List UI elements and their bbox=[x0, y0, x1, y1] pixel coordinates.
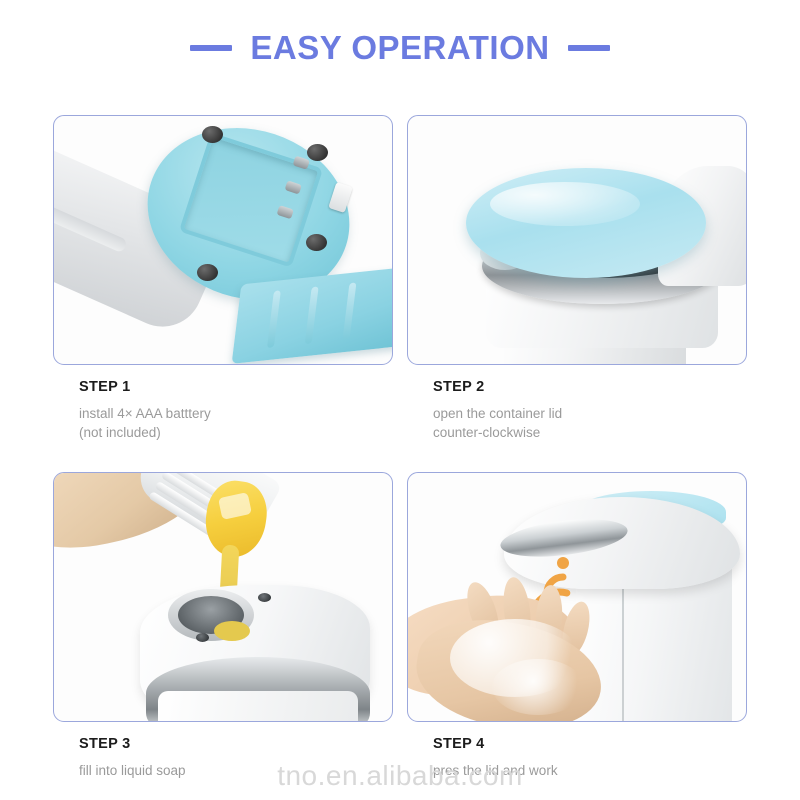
open-lid-scene bbox=[408, 116, 746, 364]
step-label: STEP 3 bbox=[79, 736, 391, 752]
step-description: open the container lid counter-clockwise bbox=[433, 404, 745, 442]
step-label: STEP 2 bbox=[433, 379, 745, 395]
step-label: STEP 4 bbox=[433, 736, 745, 752]
steps-grid: STEP 1 install 4× AAA batttery (not incl… bbox=[53, 115, 747, 780]
rubber-foot-shape bbox=[197, 264, 218, 281]
rubber-foot-shape bbox=[307, 144, 328, 161]
container-lid-shape bbox=[466, 168, 706, 278]
step-description-line2: counter-clockwise bbox=[433, 425, 540, 440]
pour-soap-scene bbox=[54, 473, 392, 721]
step-caption-2: STEP 2 open the container lid counter-cl… bbox=[407, 365, 747, 442]
step-caption-1: STEP 1 install 4× AAA batttery (not incl… bbox=[53, 365, 393, 442]
battery-compartment-scene bbox=[54, 116, 392, 364]
page-header: EASY OPERATION bbox=[0, 0, 800, 95]
dispenser-lower-body-shape bbox=[158, 691, 358, 722]
rubber-foot-shape bbox=[202, 126, 223, 143]
page-title: EASY OPERATION bbox=[250, 29, 549, 67]
sensor-hands-scene bbox=[408, 473, 746, 721]
step-description-line2: (not included) bbox=[79, 425, 161, 440]
step-description-line1: install 4× AAA batttery bbox=[79, 406, 211, 421]
step-caption-3: STEP 3 fill into liquid soap bbox=[53, 722, 393, 780]
step-cell-4: STEP 4 pres the lid and work bbox=[407, 472, 747, 780]
title-dash-right-icon bbox=[568, 45, 610, 51]
step-photo-4 bbox=[407, 472, 747, 722]
lid-highlight-shape bbox=[490, 182, 640, 226]
step-description-line1: pres the lid and work bbox=[433, 763, 558, 778]
step-description-line1: open the container lid bbox=[433, 406, 562, 421]
step-cell-2: STEP 2 open the container lid counter-cl… bbox=[407, 115, 747, 442]
body-seam-shape bbox=[53, 180, 128, 254]
step-photo-3 bbox=[53, 472, 393, 722]
step-description-line1: fill into liquid soap bbox=[79, 763, 186, 778]
step-cell-1: STEP 1 install 4× AAA batttery (not incl… bbox=[53, 115, 393, 442]
step-description: fill into liquid soap bbox=[79, 761, 391, 780]
title-dash-left-icon bbox=[190, 45, 232, 51]
step-cell-3: STEP 3 fill into liquid soap bbox=[53, 472, 393, 780]
step-description: pres the lid and work bbox=[433, 761, 745, 780]
rubber-foot-shape bbox=[306, 234, 327, 251]
step-description: install 4× AAA batttery (not included) bbox=[79, 404, 391, 442]
step-photo-1 bbox=[53, 115, 393, 365]
step-photo-2 bbox=[407, 115, 747, 365]
step-caption-4: STEP 4 pres the lid and work bbox=[407, 722, 747, 780]
step-label: STEP 1 bbox=[79, 379, 391, 395]
soap-foam-shape bbox=[492, 659, 584, 715]
